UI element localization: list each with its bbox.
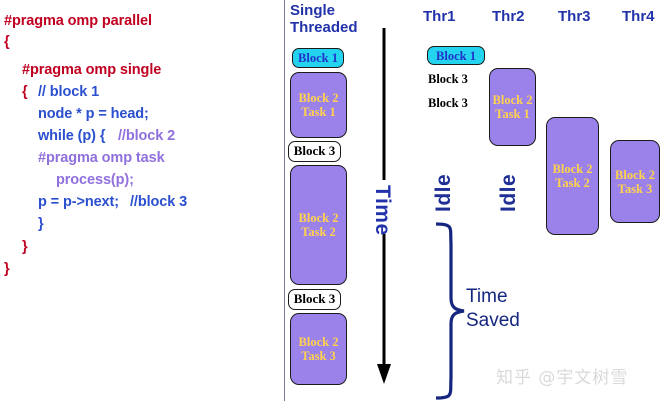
code-line-close-brace-single: } (22, 239, 28, 255)
code-line-open-brace-outer: { (4, 34, 10, 50)
watermark-text: 知乎 @宇文树雪 (496, 363, 628, 388)
code-line-pragma-single: #pragma omp single (22, 62, 161, 78)
thr1-block-3-second: Block 3 (428, 96, 468, 111)
thr1-idle-label: Idle (432, 174, 456, 212)
single-block-2-task-1: Block 2 Task 1 (290, 72, 347, 138)
code-line-while: while (p) { (38, 128, 105, 144)
single-block-2-task-2: Block 2 Task 2 (290, 165, 347, 285)
code-comment-block-3: //block 3 (130, 194, 187, 210)
slide-canvas: #pragma omp parallel { #pragma omp singl… (0, 0, 663, 401)
thr1-block-1: Block 1 (427, 46, 485, 65)
thr2-block-2-task-1: Block 2 Task 1 (489, 68, 536, 146)
panel-divider (284, 0, 285, 401)
code-line-close-brace-while: } (38, 216, 44, 232)
thread-header-thr3: Thr3 (558, 8, 591, 25)
code-line-open-brace-single: { (22, 84, 28, 100)
thr2-idle-label: Idle (497, 174, 521, 212)
code-line-pragma-task: #pragma omp task (38, 150, 165, 166)
thr3-block-2-task-2: Block 2 Task 2 (546, 117, 599, 235)
thread-header-thr1: Thr1 (423, 8, 456, 25)
code-line-node-head: node * p = head; (38, 106, 149, 122)
code-line-process-call: process(p); (56, 172, 134, 188)
code-comment-block-2: //block 2 (118, 128, 175, 144)
time-axis-label: Time (370, 185, 394, 236)
thread-header-thr4: Thr4 (622, 8, 655, 25)
thr4-block-2-task-3: Block 2 Task 3 (610, 140, 660, 223)
code-line-pragma-parallel: #pragma omp parallel (4, 13, 152, 29)
single-block-3-second: Block 3 (288, 289, 341, 310)
thr1-block-3-first: Block 3 (428, 72, 468, 87)
time-saved-label: Time Saved (466, 285, 520, 333)
code-panel: #pragma omp parallel { #pragma omp singl… (0, 0, 278, 401)
time-saved-brace (404, 222, 468, 400)
single-block-3-first: Block 3 (288, 141, 341, 162)
code-line-p-next: p = p->next; (38, 194, 119, 210)
single-threaded-header: Single Threaded (290, 2, 358, 36)
thread-header-thr2: Thr2 (492, 8, 525, 25)
code-comment-block-1: // block 1 (38, 84, 99, 100)
single-block-2-task-3: Block 2 Task 3 (290, 313, 347, 385)
code-line-close-brace-outer: } (4, 261, 10, 277)
single-block-1: Block 1 (292, 48, 344, 68)
